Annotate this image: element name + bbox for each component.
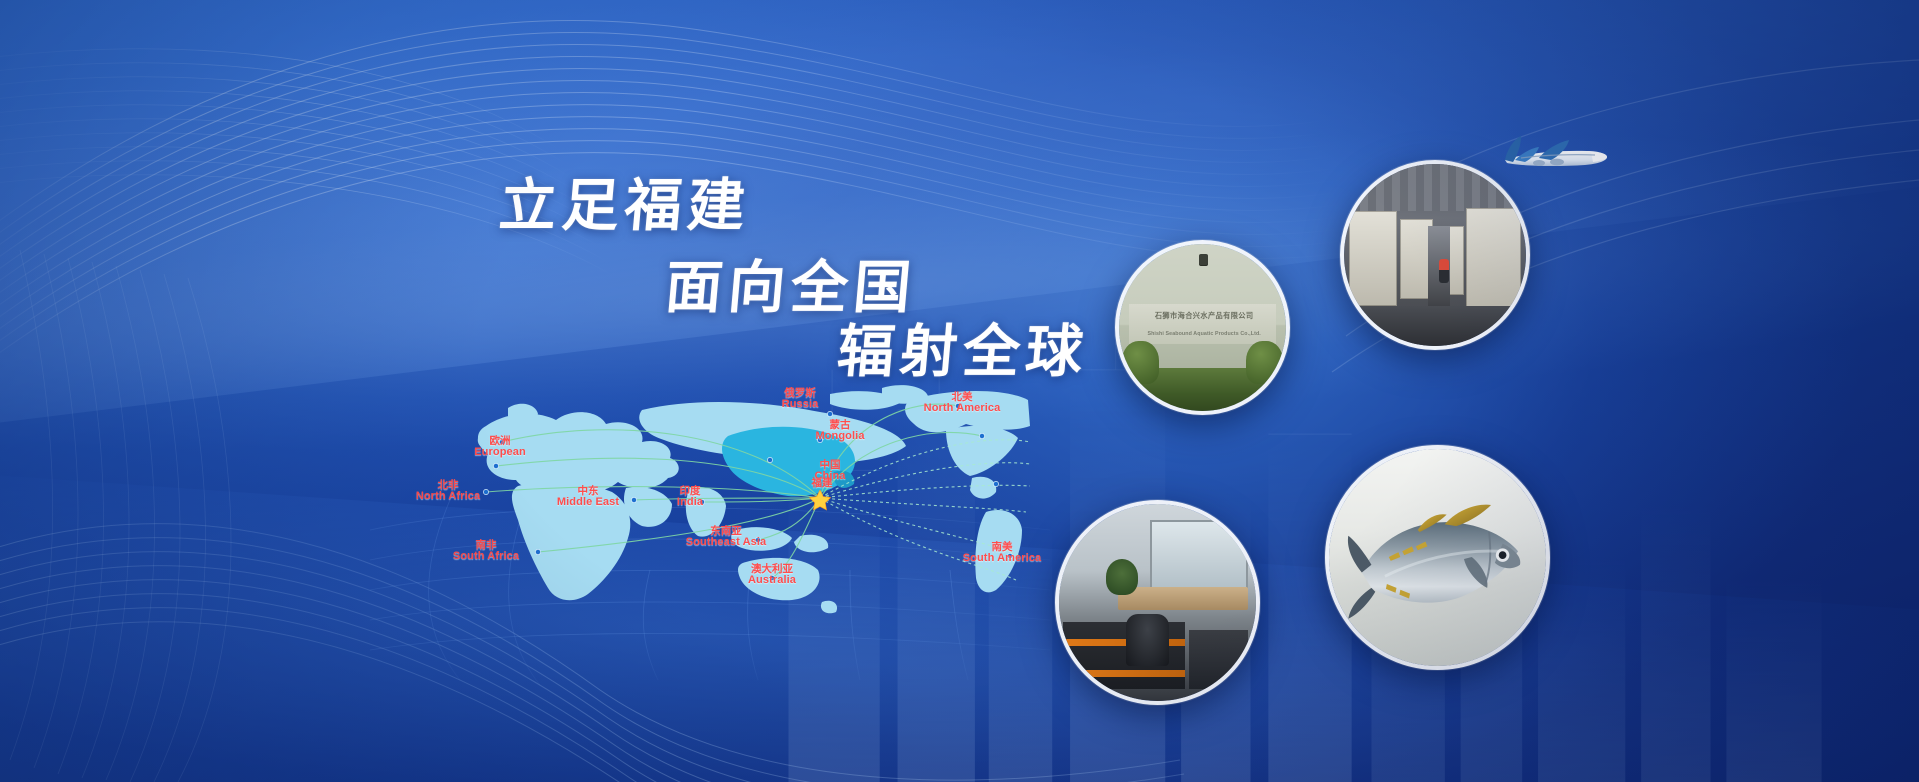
light-sweep-top bbox=[0, 0, 1919, 442]
headline-line-3: 辐射全球 bbox=[834, 306, 1092, 388]
potted-plant-icon bbox=[1106, 559, 1138, 594]
company-sign-english: Shishi Seabound Aquatic Products Co.,Ltd… bbox=[1132, 331, 1276, 337]
reception-counter bbox=[1118, 587, 1248, 611]
wall-lamp-icon bbox=[1199, 254, 1208, 265]
airplane-icon bbox=[1495, 128, 1615, 182]
warehouse-floor bbox=[1344, 306, 1526, 346]
carton-stack bbox=[1349, 211, 1396, 306]
bush-right bbox=[1246, 341, 1283, 384]
office-partition bbox=[1189, 630, 1248, 689]
desk-accent-strip bbox=[1063, 670, 1185, 677]
world-trade-route-map: 俄罗斯 Russia 蒙古 Mongolia 中国 China 欧洲 Europ… bbox=[390, 380, 1030, 670]
company-sign-chinese: 石狮市海合兴水产品有限公司 bbox=[1132, 311, 1276, 321]
office-chair bbox=[1126, 614, 1169, 665]
headline-line-2: 面向全国 bbox=[662, 242, 920, 324]
office-window bbox=[1150, 520, 1249, 595]
carton-stack bbox=[1466, 208, 1521, 310]
office-interior-photo[interactable] bbox=[1055, 500, 1260, 705]
cold-storage-warehouse-photo[interactable] bbox=[1340, 160, 1530, 350]
company-building-photo[interactable]: 石狮市海合兴水产品有限公司 Shishi Seabound Aquatic Pr… bbox=[1115, 240, 1290, 415]
headline-line-1: 立足福建 bbox=[496, 160, 754, 242]
marketing-banner: 立足福建 面向全国 辐射全球 bbox=[0, 0, 1919, 782]
tuna-fish-icon bbox=[1329, 449, 1546, 666]
bush-left bbox=[1122, 341, 1159, 384]
worker-figure bbox=[1439, 259, 1449, 283]
tuna-fish-product-photo[interactable] bbox=[1325, 445, 1550, 670]
